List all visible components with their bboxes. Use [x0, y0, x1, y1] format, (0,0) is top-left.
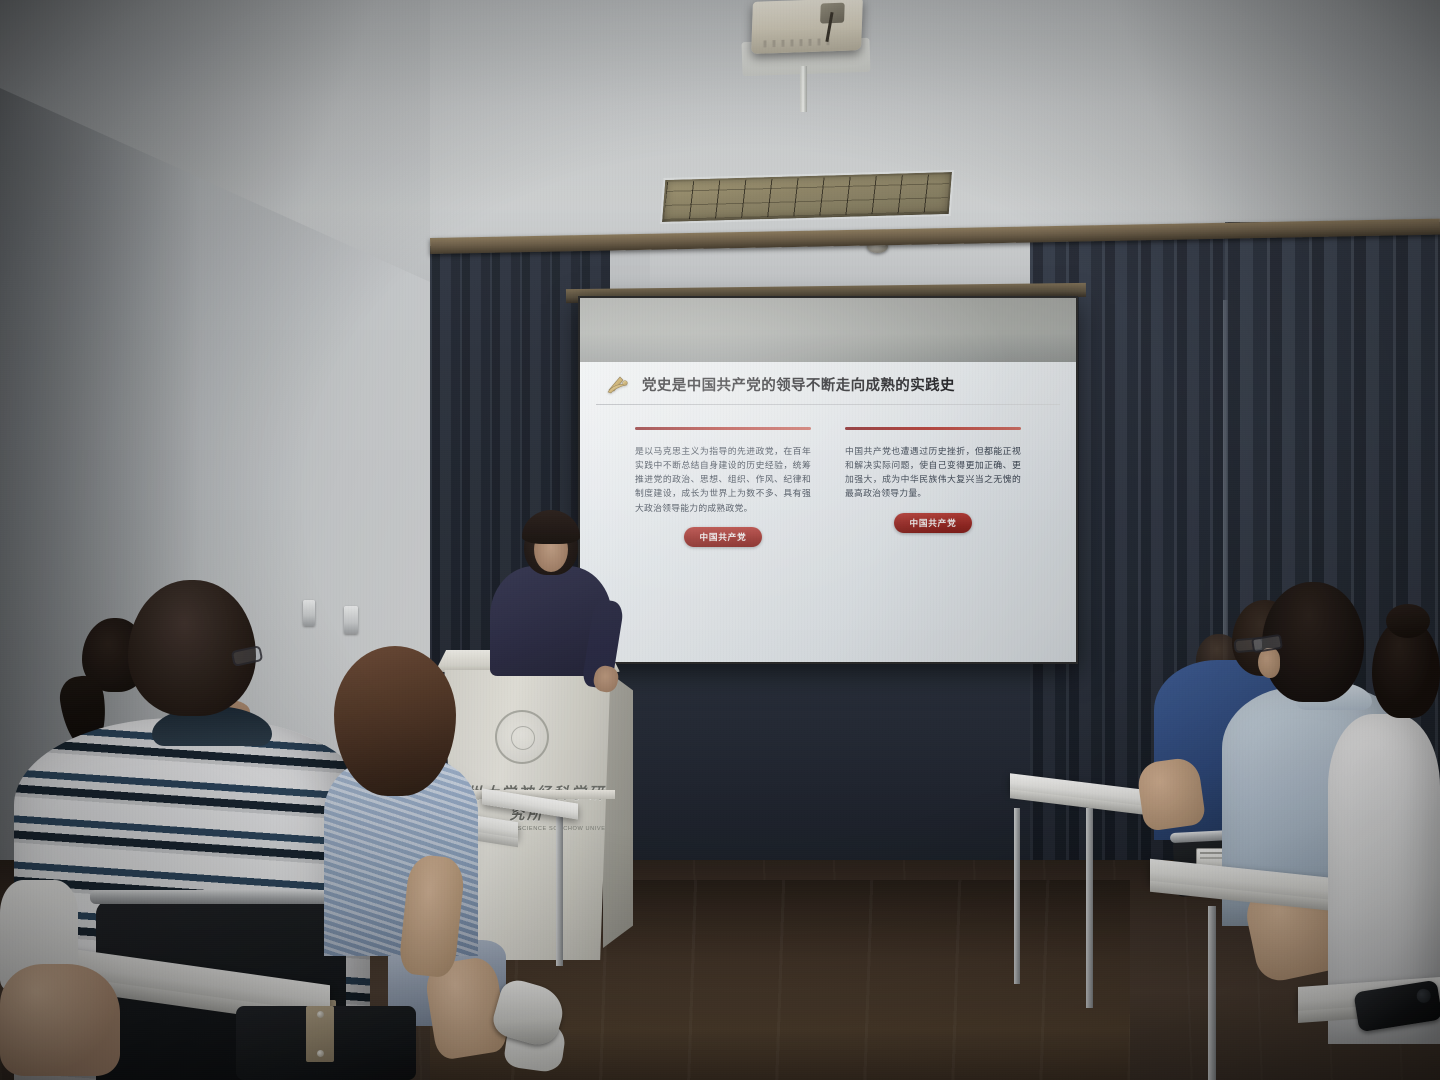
projector-mount-pole: [800, 66, 807, 112]
desk-leg: [1014, 808, 1020, 984]
university-crest-icon: [495, 710, 549, 764]
attendee-hair-bun: [1386, 604, 1430, 638]
column-pill-label: 中国共产党: [894, 513, 973, 533]
slide-header: 党史是中国共产党的领导不断走向成熟的实践史: [606, 374, 1050, 404]
desk-leg: [556, 816, 563, 966]
column-body-text: 是以马克思主义为指导的先进政党，在百年实践中不断总结自身建设的历史经验，统筹推进…: [635, 444, 811, 515]
attendee-ear: [1258, 648, 1280, 678]
presentation-slide: 党史是中国共产党的领导不断走向成熟的实践史 是以马克思主义为指导的先进政党，在百…: [580, 362, 1076, 662]
recessed-light-fixture: [660, 170, 954, 224]
ceiling-projector: [751, 0, 863, 54]
attendee-hair: [334, 646, 456, 796]
projection-screen: 党史是中国共产党的领导不断走向成熟的实践史 是以马克思主义为指导的先进政党，在百…: [578, 296, 1078, 664]
slide-title: 党史是中国共产党的领导不断走向成熟的实践史: [642, 374, 955, 395]
slide-title-divider: [596, 404, 1060, 405]
column-accent-bar: [845, 427, 1021, 430]
classroom-photo: 党史是中国共产党的领导不断走向成熟的实践史 是以马克思主义为指导的先进政党，在百…: [0, 0, 1440, 1080]
column-pill-wrap: 中国共产党: [635, 527, 811, 547]
slide-columns: 是以马克思主义为指导的先进政党，在百年实践中不断总结自身建设的历史经验，统筹推进…: [606, 427, 1050, 547]
wall-outlet[interactable]: [344, 606, 358, 634]
attendee-arm: [0, 964, 120, 1076]
slide-column-right: 中国共产党也遭遇过历史挫折，但都能正视和解决实际问题，使自己变得更加正确、更加强…: [845, 427, 1021, 547]
column-pill-wrap: 中国共产党: [845, 513, 1021, 533]
wall-switch[interactable]: [303, 600, 315, 626]
light-louver-grille: [664, 174, 950, 220]
attendee-head: [128, 580, 256, 716]
column-accent-bar: [635, 427, 811, 430]
chair-hinge: [306, 1006, 334, 1062]
desk-leg: [1086, 808, 1093, 1008]
party-emblem-icon: [606, 374, 632, 396]
desk-leg: [1208, 906, 1216, 1080]
slide-column-left: 是以马克思主义为指导的先进政党，在百年实践中不断总结自身建设的历史经验，统筹推进…: [635, 427, 811, 547]
column-pill-label: 中国共产党: [684, 527, 763, 547]
screen-surface: 党史是中国共产党的领导不断走向成熟的实践史 是以马克思主义为指导的先进政党，在百…: [580, 298, 1076, 662]
chair-chrome-rail: [90, 890, 352, 904]
column-body-text: 中国共产党也遭遇过历史挫折，但都能正视和解决实际问题，使自己变得更加正确、更加强…: [845, 444, 1021, 501]
screen-unprojected-band: [580, 298, 1076, 362]
